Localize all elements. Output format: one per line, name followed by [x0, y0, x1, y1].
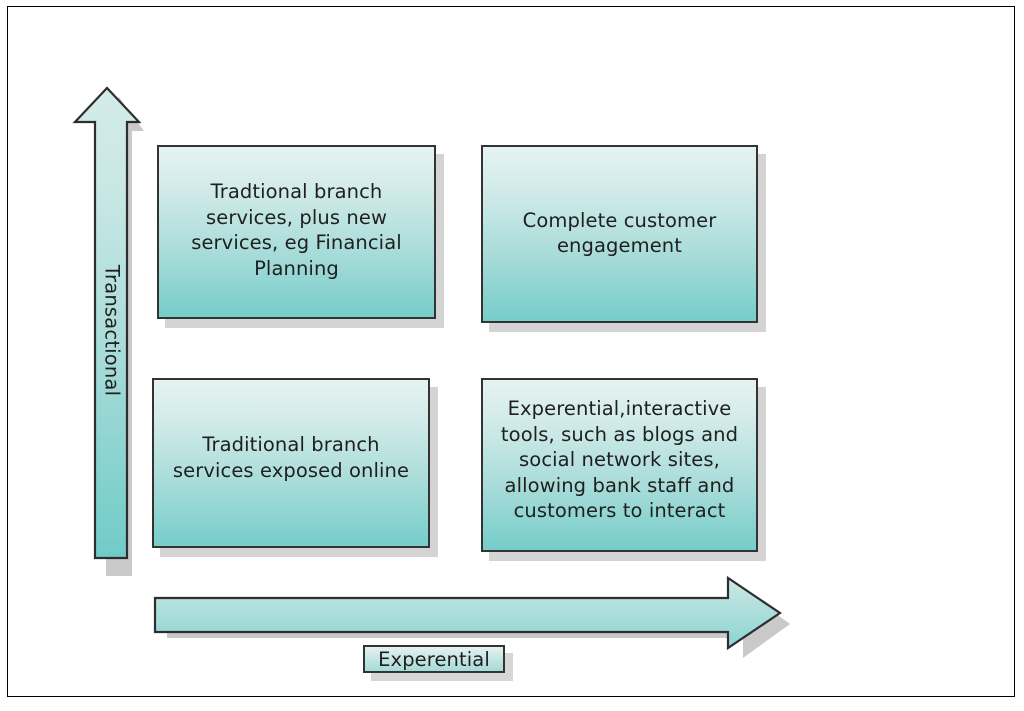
horizontal-axis-label: Experential — [363, 645, 505, 673]
quadrant-text-top-left: Tradtional branch services, plus new ser… — [185, 179, 408, 281]
quadrant-box-bottom-right[interactable]: Experential,interactive tools, such as b… — [481, 378, 758, 552]
quadrant-text-bottom-left: Traditional branch services exposed onli… — [167, 432, 415, 483]
quadrant-box-top-left[interactable]: Tradtional branch services, plus new ser… — [157, 145, 436, 319]
quadrant-text-bottom-right: Experential,interactive tools, such as b… — [495, 396, 744, 524]
diagram-canvas: Transactional Experential Tradtional bra… — [0, 0, 1024, 711]
quadrant-box-top-right[interactable]: Complete customer engagement — [481, 145, 758, 323]
horizontal-axis-label-text: Experential — [378, 648, 490, 671]
quadrant-text-top-right: Complete customer engagement — [517, 208, 723, 259]
up-arrow-icon — [62, 80, 162, 580]
quadrant-box-bottom-left[interactable]: Traditional branch services exposed onli… — [152, 378, 430, 548]
